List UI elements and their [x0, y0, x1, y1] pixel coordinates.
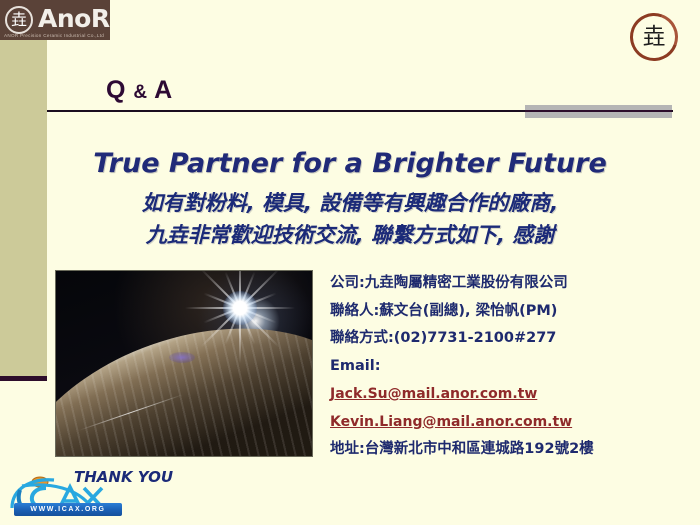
- contact-person: 聯絡人:蘇文台(副總), 梁怡帆(PM): [330, 304, 690, 319]
- contact-email-label: Email:: [330, 359, 690, 374]
- page-title-q: Q: [106, 76, 126, 104]
- corner-seal-icon: 垚: [630, 13, 678, 61]
- earth-horizon-photo: [55, 270, 313, 457]
- anor-brand-logo: 垚 AnoR ANOR Precision Ceramic Industrial…: [0, 0, 110, 40]
- contact-company: 公司:九垚陶屬精密工業股份有限公司: [330, 276, 690, 291]
- icax-url-banner[interactable]: WWW.ICAX.ORG: [14, 503, 122, 516]
- contact-email-2-link[interactable]: Kevin.Liang@mail.anor.com.tw: [330, 415, 572, 429]
- left-accent-band-bar: [0, 376, 47, 381]
- contact-block: 公司:九垚陶屬精密工業股份有限公司 聯絡人:蘇文台(副總), 梁怡帆(PM) 聯…: [330, 276, 690, 457]
- anor-seal-icon: 垚: [3, 3, 37, 37]
- subheadline-line-1: 如有對粉料, 模具, 設備等有興趣合作的廠商,: [0, 192, 700, 215]
- anor-wordmark: AnoR: [38, 6, 110, 31]
- page-title-a: A: [154, 76, 173, 104]
- page-title-ampersand: &: [133, 82, 147, 103]
- contact-email-2-row: Kevin.Liang@mail.anor.com.tw: [330, 415, 690, 430]
- anor-seal-glyph: 垚: [3, 3, 35, 37]
- contact-phone: 聯絡方式:(02)7731-2100#277: [330, 331, 690, 346]
- contact-address: 地址:台灣新北市中和區連城路192號2樓: [330, 442, 690, 457]
- thank-you-text: THANK YOU: [74, 470, 173, 485]
- headline: True Partner for a Brighter Future: [0, 148, 700, 179]
- page-title: Q & A: [106, 78, 173, 103]
- subheadline-line-2: 九垚非常歡迎技術交流, 聯繫方式如下, 感謝: [0, 224, 700, 247]
- contact-email-1-row: Jack.Su@mail.anor.com.tw: [330, 387, 690, 402]
- corner-seal-glyph: 垚: [630, 13, 678, 61]
- contact-email-1-link[interactable]: Jack.Su@mail.anor.com.tw: [330, 387, 537, 401]
- anor-tagline: ANOR Precision Ceramic Industrial Co.,Lt…: [4, 33, 104, 38]
- slide-canvas: 垚 AnoR ANOR Precision Ceramic Industrial…: [0, 0, 700, 525]
- header-divider-block-line: [525, 110, 672, 112]
